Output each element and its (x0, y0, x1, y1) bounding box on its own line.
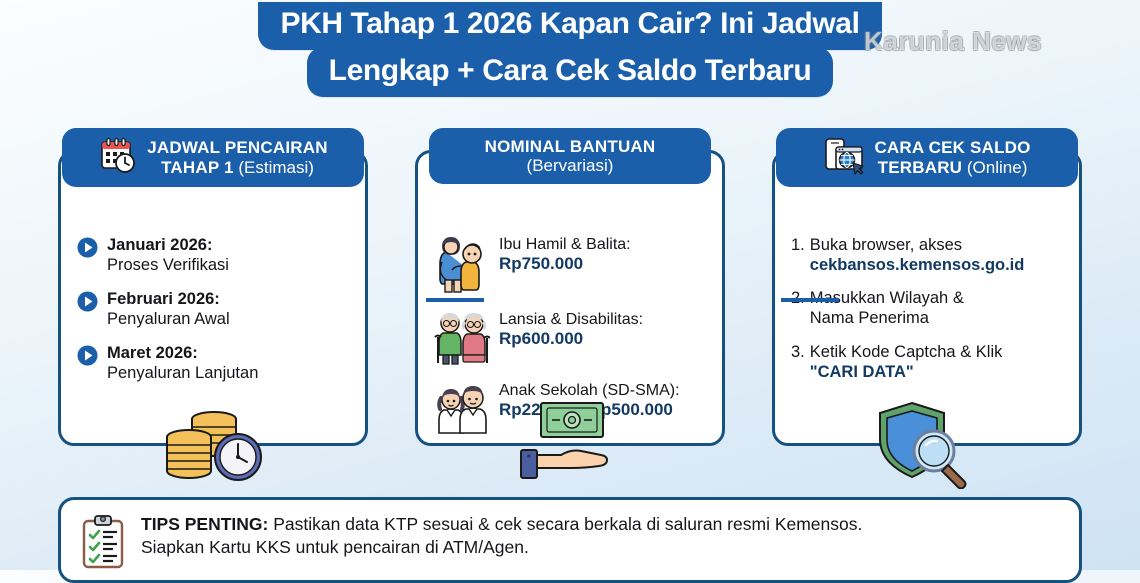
header-title: CARA CEK SALDO (874, 138, 1030, 157)
connector-line-2 (781, 298, 839, 302)
tips-line-2: Siapkan Kartu KKS untuk pencairan di ATM… (141, 537, 529, 557)
card-header-cek-saldo: CARA CEK SALDO TERBARU (Online) (776, 128, 1078, 187)
card-header-nominal: NOMINAL BANTUAN (Bervariasi) (429, 128, 711, 184)
title-banner: PKH Tahap 1 2026 Kapan Cair? Ini Jadwal … (0, 0, 1140, 100)
header-title-2: TERBARU (878, 158, 963, 177)
nominal-category: Lansia & Disabilitas: (499, 310, 643, 329)
coins-and-clock-icon (154, 397, 274, 494)
clipboard-checklist-icon (79, 514, 127, 575)
school-children-icon (434, 382, 490, 439)
column-jadwal: Januari 2026: Proses Verifikasi Februari… (58, 128, 368, 448)
hand-with-banknote-icon (513, 397, 633, 494)
list-item: Lansia & Disabilitas: Rp600.000 (434, 310, 708, 370)
tips-bar: TIPS PENTING: Pastikan data KTP sesuai &… (58, 497, 1082, 583)
step-text: Buka browser, akses cekbansos.kemensos.g… (810, 235, 1025, 275)
list-item: 2. Masukkan Wilayah & Nama Penerima (791, 288, 1065, 328)
title-line-1: PKH Tahap 1 2026 Kapan Cair? Ini Jadwal (258, 2, 881, 50)
phone-browser-globe-icon (823, 135, 865, 180)
list-item-text: Lansia & Disabilitas: Rp600.000 (499, 310, 643, 350)
step-number: 3. (791, 342, 805, 362)
tips-line-1: Pastikan data KTP sesuai & cek secara be… (268, 514, 862, 534)
columns-container: Januari 2026: Proses Verifikasi Februari… (58, 128, 1082, 448)
play-circle-icon (77, 345, 98, 371)
header-subtitle: (Online) (967, 158, 1027, 177)
tips-label: TIPS PENTING: (141, 514, 268, 534)
header-subtitle: (Estimasi) (238, 158, 314, 177)
column-nominal: Ibu Hamil & Balita: Rp750.000 (415, 128, 725, 448)
step-line-1: Buka browser, akses (810, 235, 1025, 255)
connector-line-1 (426, 298, 484, 302)
list-item-text: Ibu Hamil & Balita: Rp750.000 (499, 235, 631, 275)
list-item-text: Januari 2026: Proses Verifikasi (107, 235, 229, 276)
step-text: Ketik Kode Captcha & Klik "CARI DATA" (810, 342, 1003, 382)
step-line-1: Ketik Kode Captcha & Klik (810, 342, 1003, 362)
list-item: 1. Buka browser, akses cekbansos.kemenso… (791, 235, 1065, 275)
nominal-amount: Rp600.000 (499, 329, 643, 349)
list-item-text: Maret 2026: Penyaluran Lanjutan (107, 343, 258, 384)
list-item-text: Februari 2026: Penyaluran Awal (107, 289, 230, 330)
list-item: 3. Ketik Kode Captcha & Klik "CARI DATA" (791, 342, 1065, 382)
step-number: 1. (791, 235, 805, 255)
step-emphasis: "CARI DATA" (810, 362, 1003, 382)
card-header-text: JADWAL PENCAIRAN TAHAP 1 (Estimasi) (147, 138, 327, 176)
list-item: Maret 2026: Penyaluran Lanjutan (77, 343, 351, 384)
list-item: Ibu Hamil & Balita: Rp750.000 (434, 235, 708, 299)
schedule-label: Maret 2026: (107, 343, 258, 363)
schedule-label: Januari 2026: (107, 235, 229, 255)
pregnant-mother-and-baby-icon (434, 236, 490, 299)
list-item: Januari 2026: Proses Verifikasi (77, 235, 351, 276)
nominal-amount: Rp750.000 (499, 254, 631, 274)
list-item: Februari 2026: Penyaluran Awal (77, 289, 351, 330)
column-cek-saldo: 1. Buka browser, akses cekbansos.kemenso… (772, 128, 1082, 448)
schedule-detail: Proses Verifikasi (107, 255, 229, 275)
card-header-text: CARA CEK SALDO TERBARU (Online) (874, 138, 1030, 176)
play-circle-icon (77, 237, 98, 263)
tips-text: TIPS PENTING: Pastikan data KTP sesuai &… (141, 513, 862, 560)
elderly-couple-icon (434, 311, 490, 370)
nominal-category: Ibu Hamil & Balita: (499, 235, 631, 254)
play-circle-icon (77, 291, 98, 317)
step-emphasis: cekbansos.kemensos.go.id (810, 255, 1025, 275)
schedule-label: Februari 2026: (107, 289, 230, 309)
header-subtitle: (Bervariasi) (527, 156, 614, 175)
step-text: Masukkan Wilayah & Nama Penerima (810, 288, 964, 328)
shield-magnifier-icon (868, 397, 988, 494)
header-title: NOMINAL BANTUAN (485, 137, 656, 156)
title-line-2: Lengkap + Cara Cek Saldo Terbaru (307, 47, 834, 97)
step-line-2: Nama Penerima (810, 308, 964, 328)
schedule-detail: Penyaluran Awal (107, 309, 230, 329)
header-title-2: TAHAP 1 (161, 158, 234, 177)
calendar-clock-icon (98, 135, 138, 180)
card-header-jadwal: JADWAL PENCAIRAN TAHAP 1 (Estimasi) (62, 128, 364, 187)
header-title: JADWAL PENCAIRAN (147, 138, 327, 157)
schedule-detail: Penyaluran Lanjutan (107, 363, 258, 383)
card-header-text: NOMINAL BANTUAN (Bervariasi) (485, 137, 656, 175)
